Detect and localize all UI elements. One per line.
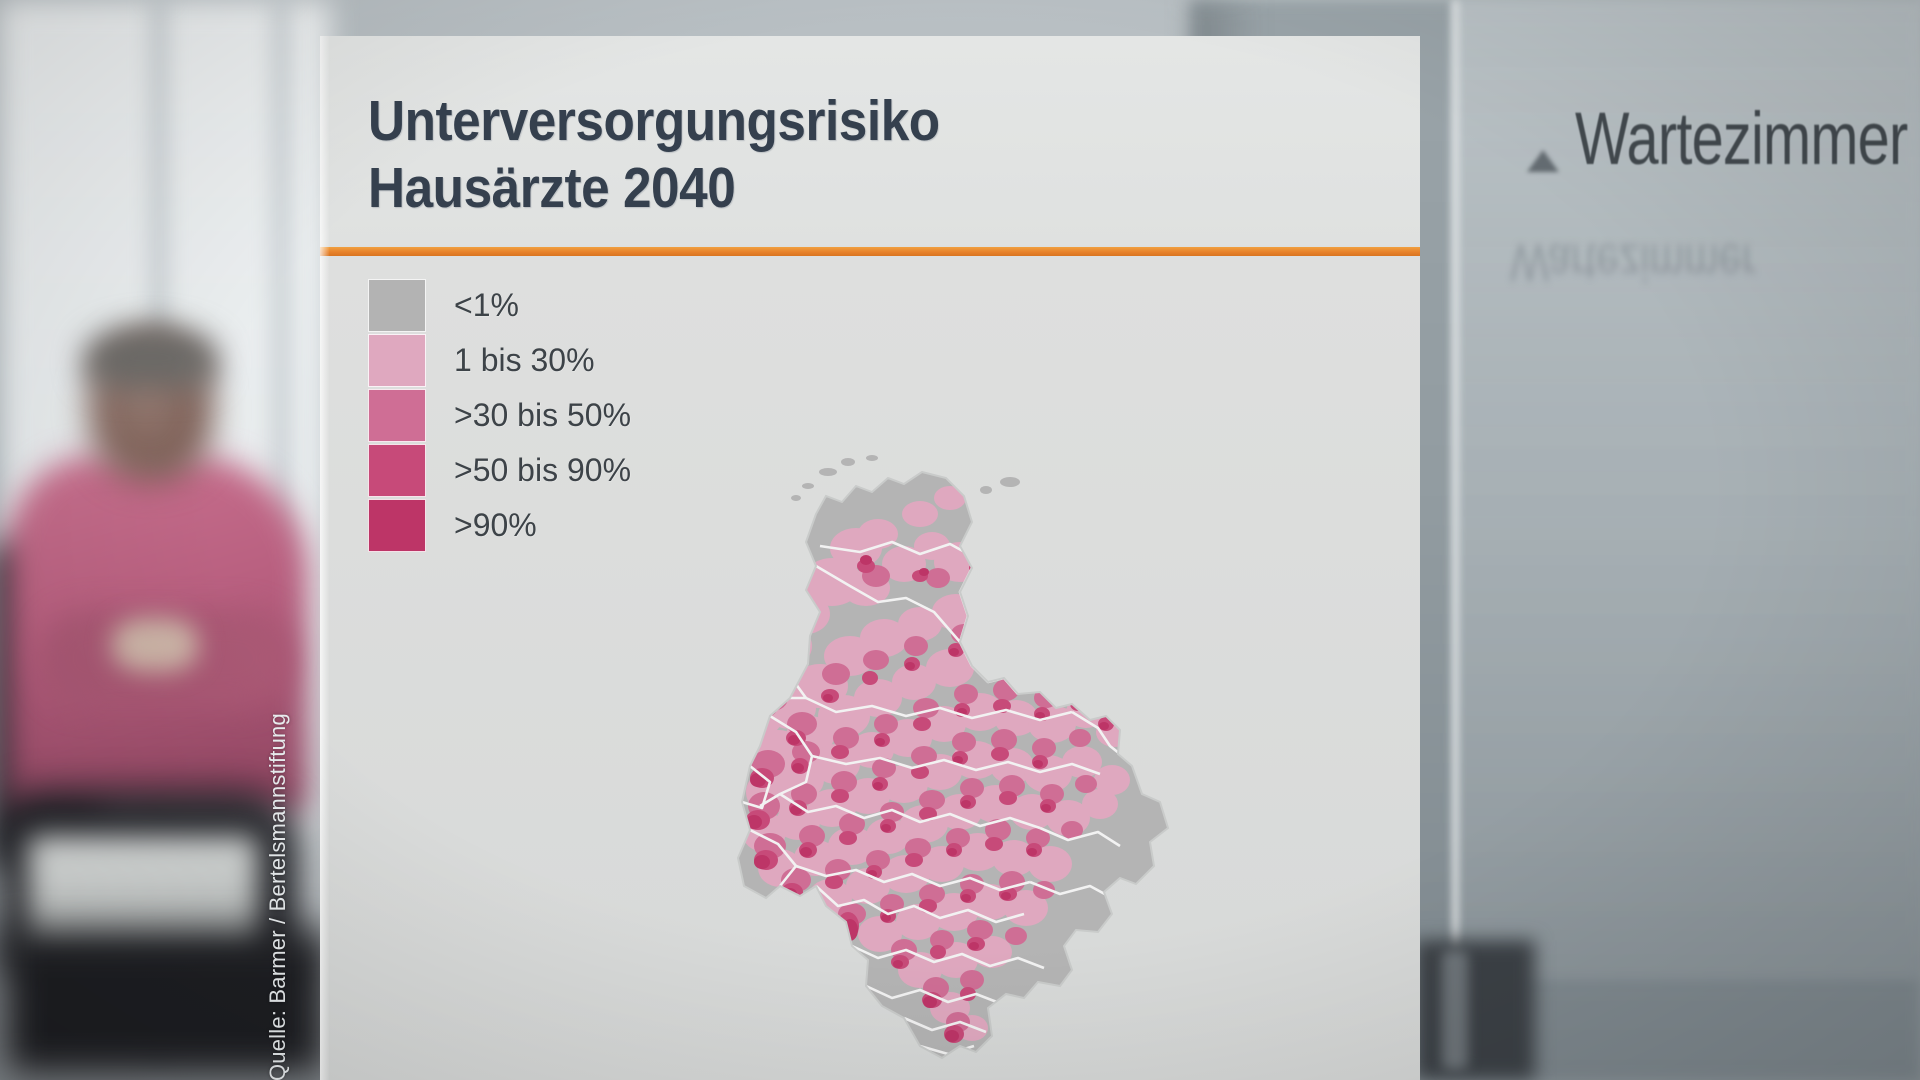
legend-label: >90%	[454, 507, 537, 544]
legend-label: 1 bis 30%	[454, 342, 595, 379]
door-sign-reflection: Wartezimmer	[1510, 232, 1756, 292]
door-frame	[1415, 940, 1535, 1080]
door-arrow-icon	[1527, 150, 1559, 172]
legend-swatch-lt1	[368, 279, 426, 332]
legend-label: <1%	[454, 287, 519, 324]
legend-swatch-50-90	[368, 444, 426, 497]
source-attribution: Quelle: Barmer / Bertelsmannstiftung	[265, 713, 291, 1080]
glass-door-edge	[1452, 0, 1459, 980]
legend-label: >30 bis 50%	[454, 397, 631, 434]
panel-body: <1% 1 bis 30% >30 bis 50% >50 bis 90% >9	[320, 256, 1420, 1080]
legend-swatch-30-50	[368, 389, 426, 442]
map-regions	[620, 246, 1260, 1080]
legend-swatch-1-30	[368, 334, 426, 387]
infographic-panel: Unterversorgungsrisiko Hausärzte 2040 <1…	[320, 36, 1420, 1080]
screenshot-stage: Wartezimmer Wartezimmer Unterversorgungs…	[0, 0, 1920, 1080]
legend-label: >50 bis 90%	[454, 452, 631, 489]
map-svg	[620, 246, 1260, 1080]
legend-swatch-gt90	[368, 499, 426, 552]
panel-header: Unterversorgungsrisiko Hausärzte 2040	[320, 36, 1420, 246]
person-hair	[84, 326, 218, 388]
person-hand	[112, 618, 198, 672]
door-sign-wartezimmer: Wartezimmer	[1575, 96, 1907, 181]
germany-choropleth-map	[620, 246, 1260, 1080]
door-handle	[1442, 950, 1468, 1070]
page-title: Unterversorgungsrisiko Hausärzte 2040	[368, 88, 1268, 221]
